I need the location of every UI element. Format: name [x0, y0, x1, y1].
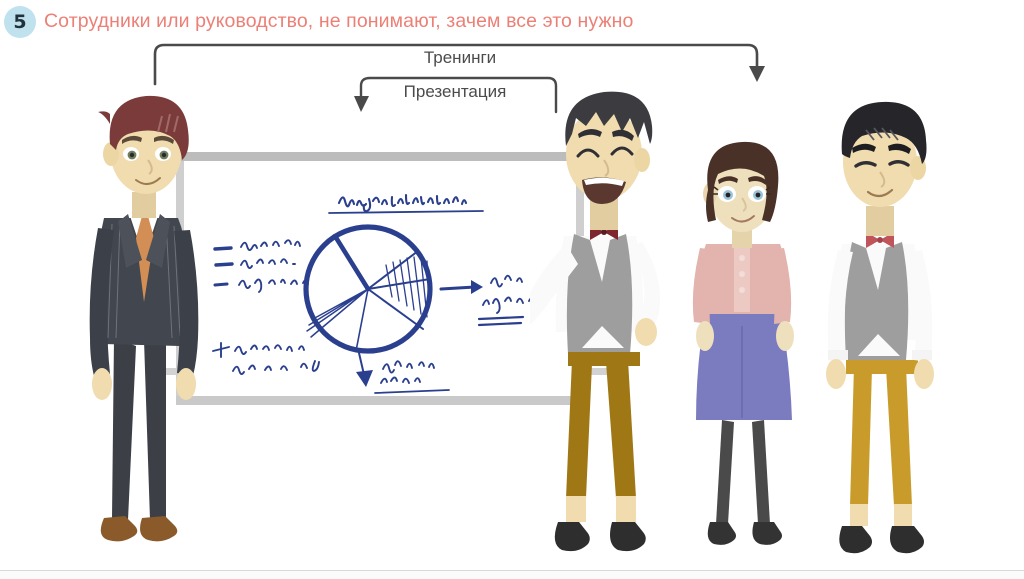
whiteboard-frame-bottom: [176, 396, 584, 405]
waistband: [846, 360, 918, 374]
neck: [866, 206, 894, 236]
character-laughing-man: [530, 84, 700, 576]
whiteboard-drawing: [183, 161, 579, 397]
step-number-badge: 5: [4, 6, 36, 38]
shoe-left: [839, 526, 872, 553]
shoe-left: [708, 522, 736, 545]
shoe-right: [752, 522, 782, 545]
whiteboard: [176, 152, 584, 404]
cardigan-placket: [734, 244, 750, 312]
shoe-left: [101, 516, 137, 541]
ankle-right: [616, 496, 636, 522]
hand-right: [635, 318, 657, 346]
cuff-right: [912, 350, 932, 360]
callout-scribble: [441, 276, 544, 325]
shoe-right: [140, 516, 177, 541]
hand-left: [92, 368, 112, 400]
step-number-text: 5: [13, 13, 26, 32]
whiteboard-surface: [182, 160, 580, 398]
ankle-right: [894, 504, 912, 526]
character-presenter-man: [74, 88, 234, 572]
leg-left: [566, 360, 592, 498]
presentation-label: Презентация: [350, 82, 560, 102]
leg-right: [144, 340, 166, 520]
leg-right: [606, 360, 636, 498]
trainings-label: Тренинги: [330, 48, 590, 68]
leg-left: [112, 338, 136, 520]
hand-left: [826, 359, 846, 389]
heading-scribble: [329, 195, 483, 213]
hand-right: [914, 359, 934, 389]
pie-chart-scribble: [306, 227, 430, 351]
leg-right: [752, 420, 770, 524]
shoe-right: [610, 522, 646, 551]
ankle-left: [566, 496, 586, 522]
hair-tuft: [98, 111, 110, 124]
waistband: [568, 352, 640, 366]
ankle-left: [850, 504, 868, 526]
leg-left: [850, 366, 872, 506]
shoe-left: [555, 522, 590, 551]
bottom-arrow-scribble: [356, 353, 449, 393]
neck: [132, 192, 156, 218]
page-title: Сотрудники или руководство, не понимают,…: [44, 10, 633, 33]
ear: [634, 148, 650, 172]
whiteboard-frame-top: [176, 152, 584, 161]
character-bowtie-man: [808, 98, 968, 576]
hand-right: [176, 368, 196, 400]
leg-right: [886, 366, 912, 506]
slide-canvas: 5 Сотрудники или руководство, не понимаю…: [0, 0, 1024, 579]
cuff-left: [828, 350, 848, 360]
shoe-right: [890, 526, 924, 553]
leg-left: [716, 420, 734, 524]
hand-right: [776, 321, 794, 351]
